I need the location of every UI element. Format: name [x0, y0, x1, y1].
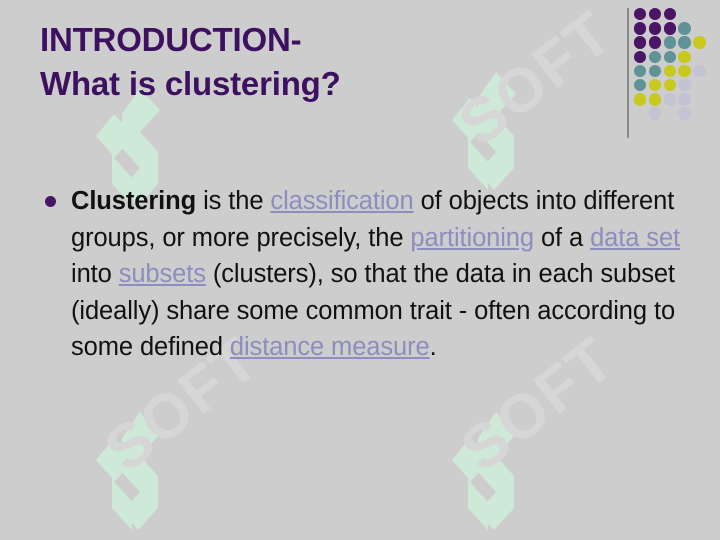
body-hyperlink[interactable]: partitioning	[410, 224, 534, 252]
vertical-divider-line	[627, 8, 629, 138]
bullet-point-icon	[45, 196, 56, 207]
decor-dot	[678, 36, 690, 48]
decor-dot	[634, 36, 646, 48]
decor-dot	[649, 22, 661, 34]
body-hyperlink[interactable]: distance measure	[230, 333, 430, 361]
decor-dot	[678, 51, 690, 63]
slide-body: Clustering is the classification of obje…	[38, 183, 686, 366]
body-emphasis: Clustering	[71, 187, 196, 215]
decor-dot	[693, 36, 705, 48]
decor-dot	[678, 22, 690, 34]
decor-dot	[649, 93, 661, 105]
body-hyperlink[interactable]: data set	[590, 224, 680, 252]
decor-dot	[693, 65, 705, 77]
decor-dot	[634, 8, 646, 20]
decor-dot	[678, 79, 690, 91]
corner-decoration	[612, 0, 720, 150]
decor-dot	[664, 22, 676, 34]
decor-dot	[678, 65, 690, 77]
bullet-item-text: Clustering is the classification of obje…	[71, 183, 686, 366]
decor-dot	[678, 93, 690, 105]
bullet-list-item: Clustering is the classification of obje…	[38, 183, 686, 366]
body-text-run: of a	[534, 224, 590, 252]
body-text-run: is the	[196, 187, 270, 215]
decor-dot	[649, 8, 661, 20]
page-title-line-1: INTRODUCTION-	[40, 18, 600, 62]
decor-dot	[649, 79, 661, 91]
body-hyperlink[interactable]: subsets	[119, 260, 206, 288]
decor-dot	[664, 79, 676, 91]
slide-title: INTRODUCTION- What is clustering?	[40, 18, 600, 106]
decor-dot	[678, 107, 690, 119]
decor-dot	[664, 8, 676, 20]
decor-dot	[649, 107, 661, 119]
decor-dot	[634, 79, 646, 91]
decor-dot	[634, 51, 646, 63]
decor-dot	[634, 93, 646, 105]
decor-dot	[649, 51, 661, 63]
body-text-run: into	[71, 260, 119, 288]
decor-dot	[664, 65, 676, 77]
decor-dot	[664, 93, 676, 105]
decor-dot	[649, 65, 661, 77]
body-hyperlink[interactable]: classification	[270, 187, 413, 215]
decor-dot	[634, 22, 646, 34]
page-title-line-2: What is clustering?	[40, 62, 600, 106]
decor-dot	[664, 36, 676, 48]
decor-dot	[634, 65, 646, 77]
decor-dot	[664, 51, 676, 63]
decor-dot	[649, 36, 661, 48]
body-text-run: .	[430, 333, 437, 361]
